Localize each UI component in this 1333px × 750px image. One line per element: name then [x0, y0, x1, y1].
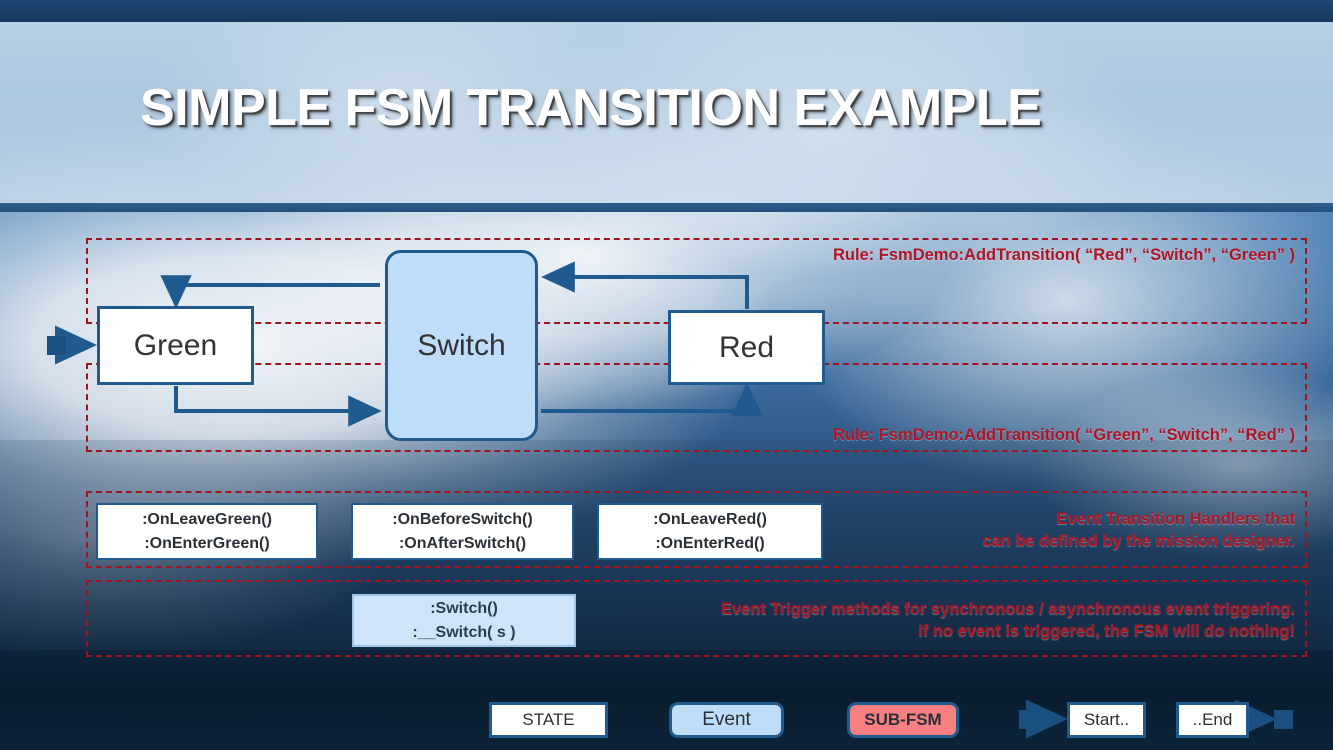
state-node-red-label: Red	[719, 331, 774, 365]
slide-canvas: SIMPLE FSM TRANSITION EXAMPLE Rule: FsmD…	[0, 0, 1333, 750]
trigger-box-switch[interactable]: :Switch() :__Switch( s )	[352, 594, 576, 647]
handler-box-green[interactable]: :OnLeaveGreen() :OnEnterGreen()	[96, 503, 318, 560]
legend-start-label: Start..	[1084, 710, 1129, 730]
legend-event-label: Event	[702, 709, 751, 731]
state-node-green[interactable]: Green	[97, 306, 254, 385]
handler-green-line1: :OnLeaveGreen()	[142, 508, 272, 532]
fsm-start-marker	[47, 336, 66, 355]
handler-box-switch[interactable]: :OnBeforeSwitch() :OnAfterSwitch()	[351, 503, 574, 560]
legend-start-marker-icon	[1019, 710, 1038, 729]
state-node-red[interactable]: Red	[668, 310, 825, 385]
legend-end-label: ..End	[1193, 710, 1233, 730]
legend-item-start[interactable]: Start..	[1067, 702, 1146, 738]
handler-switch-line1: :OnBeforeSwitch()	[392, 508, 532, 532]
legend-state-label: STATE	[522, 710, 574, 730]
legend-subfsm-label: SUB-FSM	[864, 710, 941, 730]
legend-item-end[interactable]: ..End	[1176, 702, 1249, 738]
legend-end-marker-icon	[1274, 710, 1293, 729]
handler-switch-line2: :OnAfterSwitch()	[399, 532, 526, 556]
event-node-switch[interactable]: Switch	[385, 250, 538, 441]
event-node-switch-label: Switch	[417, 329, 505, 363]
legend-item-event[interactable]: Event	[669, 702, 784, 738]
handler-red-line1: :OnLeaveRed()	[653, 508, 767, 532]
trigger-switch-line2: :__Switch( s )	[412, 621, 515, 645]
handler-box-red[interactable]: :OnLeaveRed() :OnEnterRed()	[597, 503, 823, 560]
legend-item-subfsm[interactable]: SUB-FSM	[847, 702, 959, 738]
handler-green-line2: :OnEnterGreen()	[144, 532, 269, 556]
handler-red-line2: :OnEnterRed()	[655, 532, 764, 556]
state-node-green-label: Green	[134, 329, 217, 363]
legend-item-state[interactable]: STATE	[489, 702, 608, 738]
trigger-switch-line1: :Switch()	[430, 597, 498, 621]
